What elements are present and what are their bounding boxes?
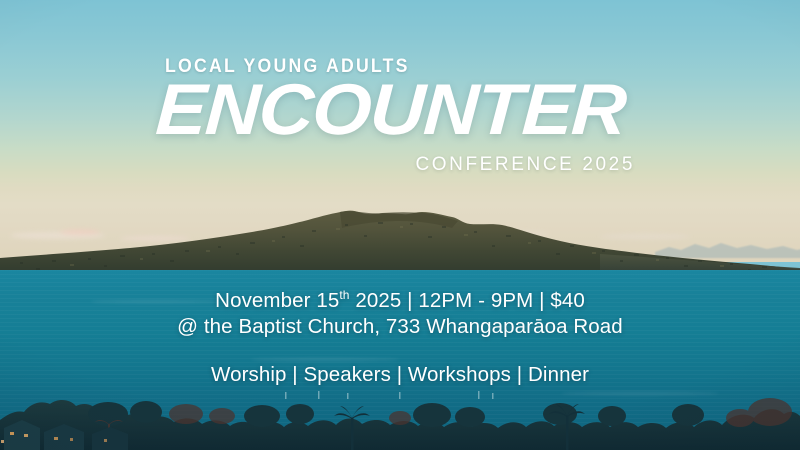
event-activities-line: Worship | Speakers | Workshops | Dinner xyxy=(0,362,800,388)
event-date-suffix: 2025 | 12PM - 9PM | $40 xyxy=(350,289,585,312)
event-date-prefix: November 15 xyxy=(215,289,339,312)
event-date-line: November 15th 2025 | 12PM - 9PM | $40 xyxy=(0,288,800,314)
event-date-ordinal: th xyxy=(339,288,349,302)
event-details-block: November 15th 2025 | 12PM - 9PM | $40 @ … xyxy=(0,288,800,388)
event-venue-line: @ the Baptist Church, 733 Whangaparāoa R… xyxy=(0,314,800,340)
poster-subline-conference-year: CONFERENCE 2025 xyxy=(415,154,635,176)
conference-poster: LOCAL YOUNG ADULTS ENCOUNTER CONFERENCE … xyxy=(0,0,800,450)
details-spacer xyxy=(0,340,800,362)
coastal-treeline-silhouette xyxy=(0,390,800,450)
poster-wordmark-encounter: ENCOUNTER xyxy=(154,74,627,146)
